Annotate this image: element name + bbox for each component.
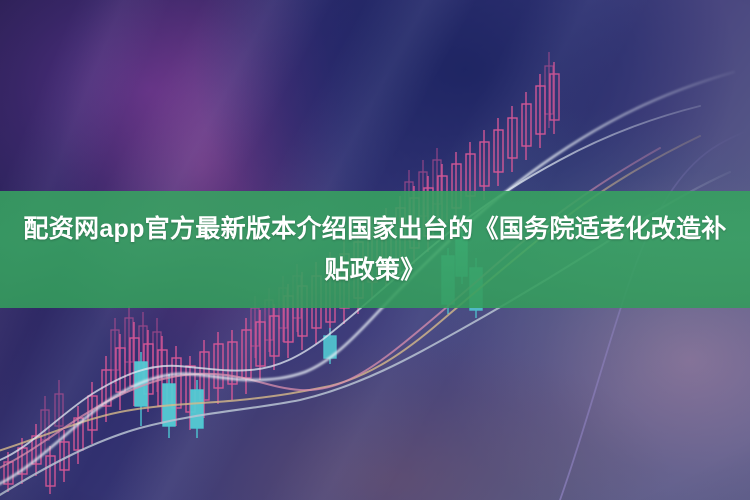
caption-text: 配资网app官方最新版本介绍国家出台的《国务院适老化改造补贴政策》 [17,209,733,291]
caption-banner: 配资网app官方最新版本介绍国家出台的《国务院适老化改造补贴政策》 [0,191,750,308]
banner-image-canvas: 配资网app官方最新版本介绍国家出台的《国务院适老化改造补贴政策》 [0,0,750,500]
